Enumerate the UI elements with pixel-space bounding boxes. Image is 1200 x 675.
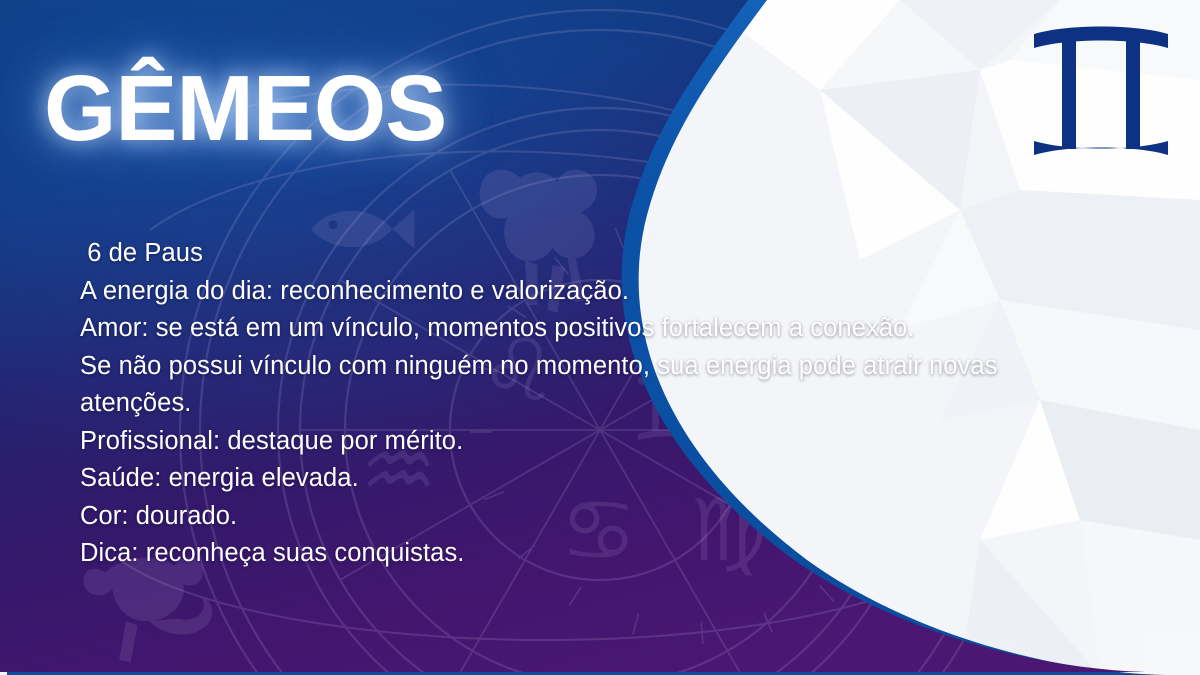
- gemini-zodiac-symbol-icon: [1026, 22, 1176, 167]
- health-line: Saúde: energia elevada.: [80, 460, 1055, 498]
- love-line: Amor: se está em um vínculo, momentos po…: [80, 310, 1055, 348]
- tarot-card-line: 6 de Paus: [80, 235, 1055, 273]
- love-extra-line: Se não possui vínculo com ninguém no mom…: [80, 348, 1055, 423]
- career-line: Profissional: destaque por mérito.: [80, 423, 1055, 461]
- page-title: GÊMEOS: [44, 62, 446, 155]
- horoscope-card: ♊ ♋ ♌ ♍ ♈ ♒ GÊMEOS 6: [0, 0, 1200, 675]
- energy-line: A energia do dia: reconhecimento e valor…: [80, 273, 1055, 311]
- horoscope-text-block: 6 de Paus A energia do dia: reconhecimen…: [80, 235, 1055, 573]
- tip-line: Dica: reconheça suas conquistas.: [80, 535, 1055, 573]
- color-line: Cor: dourado.: [80, 498, 1055, 536]
